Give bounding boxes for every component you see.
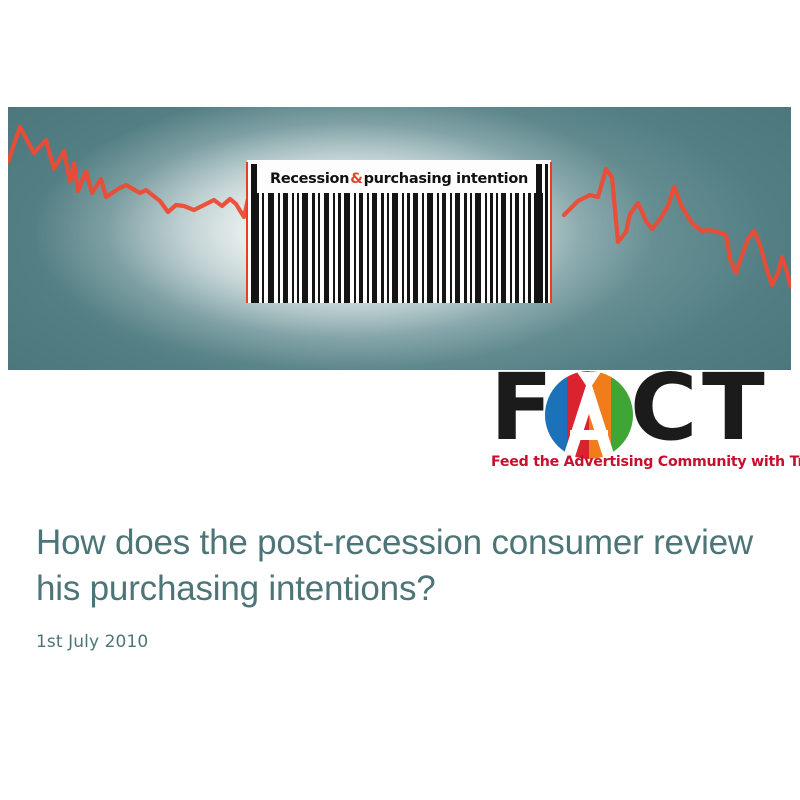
page-title: How does the post-recession consumer rev… bbox=[36, 520, 756, 612]
barcode-guard-right-icon bbox=[550, 162, 552, 303]
fact-colored-a-circle-icon bbox=[544, 370, 634, 460]
fact-logo: F bbox=[488, 368, 794, 476]
barcode-label-ampersand: & bbox=[349, 171, 363, 187]
barcode-label-suffix: purchasing intention bbox=[364, 171, 528, 187]
barcode-label-prefix: Recession bbox=[270, 171, 349, 187]
logo-letter-t: T bbox=[702, 362, 761, 454]
title-slide: Recession & purchasing intention bbox=[0, 0, 800, 800]
title-block: How does the post-recession consumer rev… bbox=[36, 520, 756, 652]
fact-wordmark: F bbox=[488, 368, 794, 452]
barcode-bars bbox=[255, 193, 543, 303]
logo-letter-c: C bbox=[630, 362, 694, 454]
logo-letter-f: F bbox=[490, 362, 549, 454]
fact-tagline: Feed the Advertising Community with Tren… bbox=[491, 454, 794, 470]
barcode-label: Recession & purchasing intention bbox=[261, 166, 537, 192]
barcode-frame-bar bbox=[545, 164, 548, 303]
barcode-graphic: Recession & purchasing intention bbox=[239, 160, 559, 303]
barcode-guard-left-icon bbox=[246, 162, 248, 303]
slide-date: 1st July 2010 bbox=[36, 632, 756, 652]
